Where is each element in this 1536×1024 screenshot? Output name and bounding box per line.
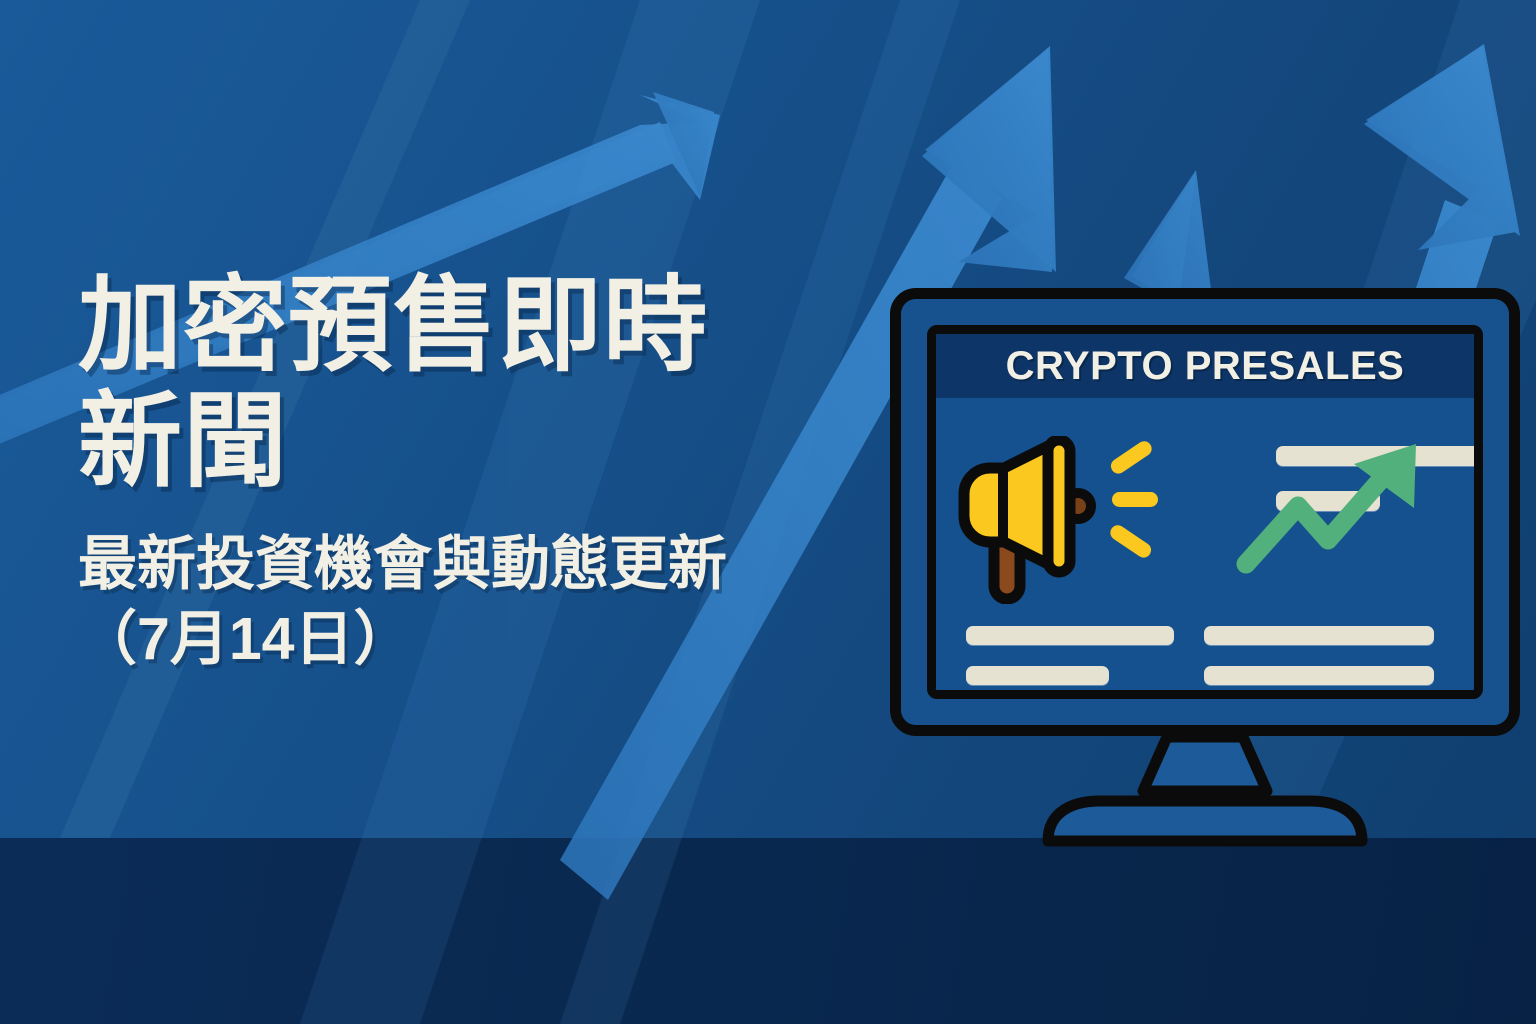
- monitor-stand-base: [1040, 793, 1370, 848]
- screen-content-area: [936, 398, 1474, 690]
- banner-text-block: 加密預售即時 新聞 最新投資機會與動態更新 （7月14日）: [78, 268, 908, 678]
- monitor-frame: CRYPTO PRESALES: [890, 288, 1520, 736]
- screen-bar-content-left-1: [966, 626, 1174, 645]
- screen-bar-content-left-2: [966, 666, 1109, 685]
- screen-bar-content-right-2: [1204, 666, 1434, 685]
- monitor-stand-neck: [1115, 731, 1295, 799]
- trend-up-arrow-icon: [1236, 436, 1436, 581]
- background-bottom-band: [0, 838, 1536, 1024]
- monitor-illustration: CRYPTO PRESALES: [890, 288, 1520, 736]
- page-title: 加密預售即時 新聞: [78, 268, 908, 501]
- page-subtitle: 最新投資機會與動態更新 （7月14日）: [78, 527, 908, 678]
- crypto-presale-news-banner: 加密預售即時 新聞 最新投資機會與動態更新 （7月14日） CRYPTO PRE…: [0, 0, 1536, 1024]
- screen-header-bar: CRYPTO PRESALES: [936, 334, 1474, 398]
- screen-title: CRYPTO PRESALES: [1006, 344, 1405, 389]
- monitor-screen: CRYPTO PRESALES: [927, 325, 1483, 699]
- screen-bar-content-right-1: [1204, 626, 1434, 645]
- sound-wave-icon: [1104, 440, 1174, 560]
